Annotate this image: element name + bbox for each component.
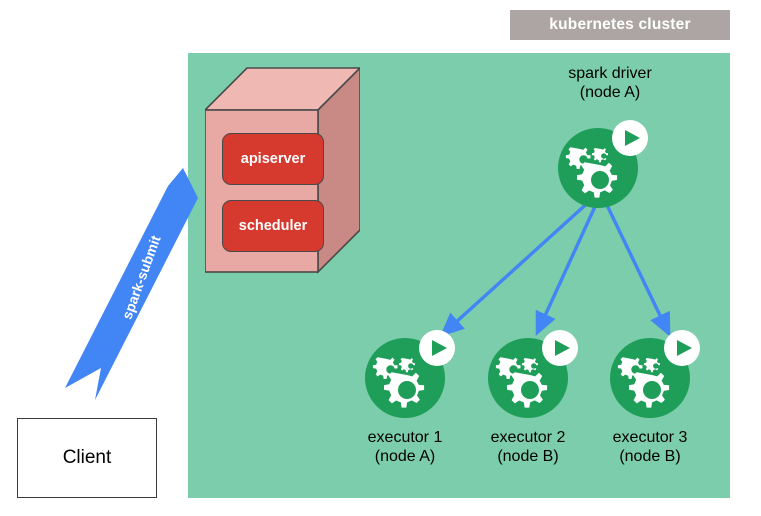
executor-1-caption: executor 1 (node A) [335,428,475,466]
executor-3-node: (node B) [580,447,720,466]
executor-3-caption: executor 3 (node B) [580,428,720,466]
spark-driver-node: (node A) [530,83,690,102]
diagram-canvas: kubernetes cluster apiserver scheduler s… [0,0,761,516]
executor-3-node-icon[interactable] [608,328,700,420]
executor-1-node-icon[interactable] [363,328,455,420]
executor-2-node: (node B) [458,447,598,466]
executor-3-name: executor 3 [580,428,720,447]
executor-2-node-icon[interactable] [486,328,578,420]
spark-driver-node-icon[interactable] [556,118,648,210]
scheduler-chip[interactable]: scheduler [222,200,324,252]
executor-2-name: executor 2 [458,428,598,447]
executor-1-node: (node A) [335,447,475,466]
spark-driver-name: spark driver [530,64,690,83]
spark-driver-caption: spark driver (node A) [530,64,690,102]
executor-2-caption: executor 2 (node B) [458,428,598,466]
client-box[interactable]: Client [17,418,157,498]
executor-1-name: executor 1 [335,428,475,447]
cluster-badge: kubernetes cluster [510,10,730,40]
apiserver-chip[interactable]: apiserver [222,133,324,185]
